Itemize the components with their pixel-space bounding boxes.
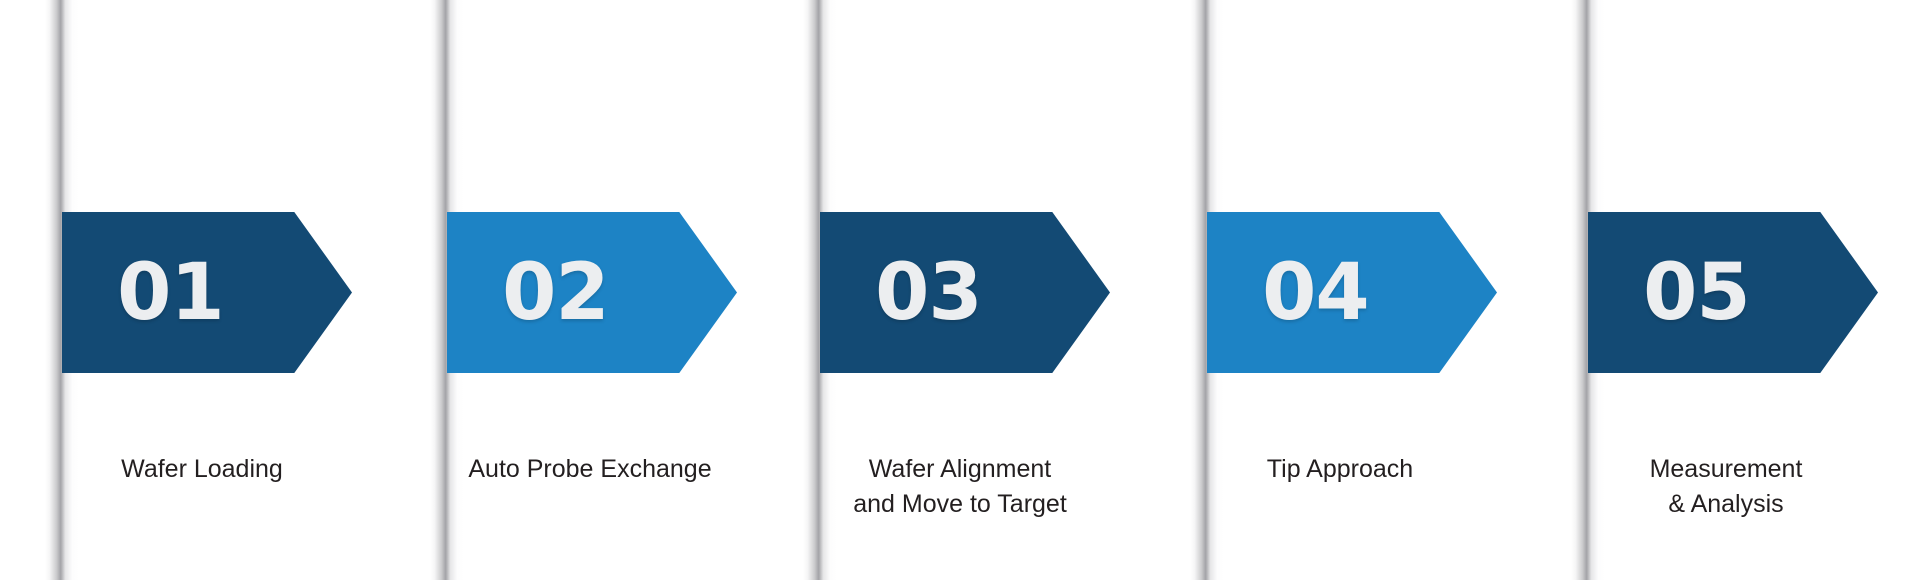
step-label: Wafer Loading	[48, 452, 356, 487]
step-number: 03	[875, 254, 982, 332]
chevron-right-arrow-icon: 02	[447, 212, 737, 373]
step-arrow-badge[interactable]: 04	[1207, 212, 1497, 373]
process-step-03[interactable]: 03Wafer Alignment and Move to Target	[806, 0, 1106, 580]
chevron-right-arrow-icon: 03	[820, 212, 1110, 373]
step-number: 01	[117, 254, 224, 332]
step-arrow-badge[interactable]: 01	[62, 212, 352, 373]
step-number: 05	[1643, 254, 1750, 332]
process-step-01[interactable]: 01Wafer Loading	[48, 0, 348, 580]
step-arrow-badge[interactable]: 03	[820, 212, 1110, 373]
step-arrow-badge[interactable]: 02	[447, 212, 737, 373]
chevron-right-arrow-icon: 01	[62, 212, 352, 373]
chevron-right-arrow-icon: 05	[1588, 212, 1878, 373]
step-label: Wafer Alignment and Move to Target	[800, 452, 1120, 521]
step-label: Auto Probe Exchange	[420, 452, 760, 487]
step-label: Measurement & Analysis	[1570, 452, 1882, 521]
process-step-02[interactable]: 02Auto Probe Exchange	[433, 0, 733, 580]
step-number: 04	[1262, 254, 1369, 332]
step-label: Tip Approach	[1190, 452, 1490, 487]
step-arrow-badge[interactable]: 05	[1588, 212, 1878, 373]
process-step-04[interactable]: 04Tip Approach	[1193, 0, 1493, 580]
process-step-05[interactable]: 05Measurement & Analysis	[1574, 0, 1874, 580]
process-flow-diagram: 01Wafer Loading02Auto Probe Exchange03Wa…	[0, 0, 1920, 580]
step-number: 02	[502, 254, 609, 332]
chevron-right-arrow-icon: 04	[1207, 212, 1497, 373]
